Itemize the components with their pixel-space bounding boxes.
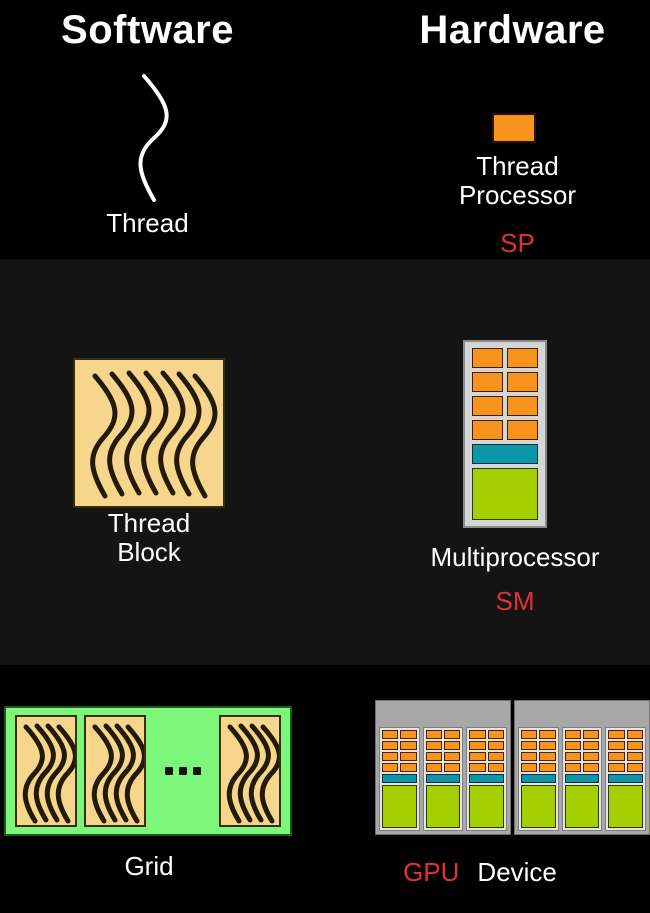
grid-block-squiggles	[17, 717, 77, 827]
mini-multiprocessor	[423, 727, 464, 831]
mini-sp-grid	[382, 730, 417, 772]
mini-sp-cell	[444, 752, 460, 761]
mini-sp-cell	[583, 741, 599, 750]
sp-cell	[507, 372, 538, 392]
mini-sp-cell	[627, 752, 643, 761]
mini-sp-cell	[627, 763, 643, 772]
mini-sp-cell	[426, 763, 442, 772]
mini-device-memory-block	[469, 785, 504, 828]
mini-sp-cell	[444, 730, 460, 739]
gpu-group-header	[515, 701, 649, 725]
gpu-group	[514, 700, 650, 835]
thread-block-squiggles	[75, 360, 225, 508]
sp-cell	[472, 372, 503, 392]
mini-sp-cell	[426, 730, 442, 739]
label-sp-abbrev: SP	[420, 228, 615, 259]
mini-shared-memory-bar	[521, 774, 556, 783]
mini-sp-cell	[488, 741, 504, 750]
mini-sp-cell	[521, 730, 537, 739]
label-thread: Thread	[60, 209, 235, 238]
mini-sp-cell	[426, 741, 442, 750]
mini-device-memory-block	[382, 785, 417, 828]
mini-device-memory-block	[608, 785, 643, 828]
mini-multiprocessor	[466, 727, 507, 831]
grid-thread-block	[15, 715, 77, 827]
orange-square-icon	[492, 113, 536, 143]
header-hardware: Hardware	[375, 8, 650, 53]
mini-sp-cell	[608, 752, 624, 761]
shared-memory-bar	[472, 444, 538, 464]
mini-shared-memory-bar	[608, 774, 643, 783]
mini-multiprocessor	[562, 727, 603, 831]
grid-thread-block	[219, 715, 281, 827]
mini-sp-cell	[627, 741, 643, 750]
mini-sp-cell	[400, 730, 416, 739]
sp-cell	[507, 348, 538, 368]
label-thread-block: Thread Block	[58, 509, 240, 567]
sp-cell	[472, 396, 503, 416]
mini-device-memory-block	[521, 785, 556, 828]
mini-sp-cell	[469, 730, 485, 739]
mini-sp-grid	[469, 730, 504, 772]
mini-sp-cell	[608, 730, 624, 739]
mini-multiprocessor	[518, 727, 559, 831]
multiprocessor-sp-grid	[472, 348, 538, 440]
gpu-device-icon	[375, 700, 650, 835]
mini-sp-cell	[521, 752, 537, 761]
mini-sp-cell	[382, 730, 398, 739]
thread-squiggle-icon	[110, 72, 200, 202]
mini-sp-cell	[583, 763, 599, 772]
mini-device-memory-block	[426, 785, 461, 828]
mini-sp-grid	[521, 730, 556, 772]
mini-sp-cell	[400, 763, 416, 772]
mini-shared-memory-bar	[565, 774, 600, 783]
sp-cell	[472, 348, 503, 368]
grid-ellipsis	[153, 767, 212, 775]
mini-sp-cell	[565, 730, 581, 739]
label-thread-processor: Thread Processor	[420, 152, 615, 210]
label-gpu-abbrev: GPU	[403, 857, 459, 888]
mini-sp-cell	[539, 730, 555, 739]
mini-shared-memory-bar	[426, 774, 461, 783]
mini-sp-cell	[539, 752, 555, 761]
software-column-header-area: Software	[0, 0, 295, 60]
sp-cell	[472, 420, 503, 440]
mini-sp-cell	[583, 752, 599, 761]
mini-shared-memory-bar	[469, 774, 504, 783]
mini-sp-cell	[400, 752, 416, 761]
mini-sp-cell	[583, 730, 599, 739]
mini-multiprocessor	[379, 727, 420, 831]
mini-sp-cell	[488, 752, 504, 761]
mini-sp-cell	[469, 741, 485, 750]
mini-sp-cell	[565, 752, 581, 761]
mini-sp-cell	[565, 763, 581, 772]
mini-sp-cell	[444, 763, 460, 772]
label-multiprocessor: Multiprocessor	[395, 543, 635, 572]
grid-icon	[4, 706, 292, 836]
grid-thread-block	[84, 715, 146, 827]
mini-sp-cell	[469, 763, 485, 772]
mini-sp-cell	[627, 730, 643, 739]
mini-sp-cell	[400, 741, 416, 750]
gpu-group	[375, 700, 511, 835]
mini-sp-grid	[426, 730, 461, 772]
mini-sp-grid	[608, 730, 643, 772]
mini-sp-cell	[488, 730, 504, 739]
mini-sp-cell	[469, 752, 485, 761]
mini-sp-cell	[521, 741, 537, 750]
sp-cell	[507, 396, 538, 416]
grid-block-squiggles	[86, 717, 146, 827]
label-grid: Grid	[58, 852, 240, 881]
mini-sp-grid	[565, 730, 600, 772]
ellipsis-dot	[179, 767, 187, 775]
ellipsis-dot	[193, 767, 201, 775]
mini-sp-cell	[539, 741, 555, 750]
mini-sp-cell	[444, 741, 460, 750]
thread-block-icon	[73, 358, 225, 508]
gpu-group-body	[376, 725, 510, 834]
mini-sp-cell	[565, 741, 581, 750]
multiprocessor-icon	[463, 340, 547, 528]
mini-shared-memory-bar	[382, 774, 417, 783]
mini-sp-cell	[608, 763, 624, 772]
mini-sp-cell	[539, 763, 555, 772]
ellipsis-dot	[165, 767, 173, 775]
label-device: Device	[477, 858, 556, 887]
hardware-column-header-area: Hardware	[375, 0, 650, 60]
mini-sp-cell	[488, 763, 504, 772]
gpu-device-label-row: GPU Device	[355, 857, 605, 888]
mini-sp-cell	[608, 741, 624, 750]
mini-multiprocessor	[605, 727, 646, 831]
mini-device-memory-block	[565, 785, 600, 828]
mini-sp-cell	[382, 752, 398, 761]
device-memory-block	[472, 468, 538, 520]
gpu-group-body	[515, 725, 649, 834]
mini-sp-cell	[382, 763, 398, 772]
mini-sp-cell	[382, 741, 398, 750]
mini-sp-cell	[426, 752, 442, 761]
header-software: Software	[0, 8, 295, 53]
gpu-group-header	[376, 701, 510, 725]
mini-sp-cell	[521, 763, 537, 772]
sp-cell	[507, 420, 538, 440]
label-sm-abbrev: SM	[395, 586, 635, 617]
grid-block-squiggles	[221, 717, 281, 827]
